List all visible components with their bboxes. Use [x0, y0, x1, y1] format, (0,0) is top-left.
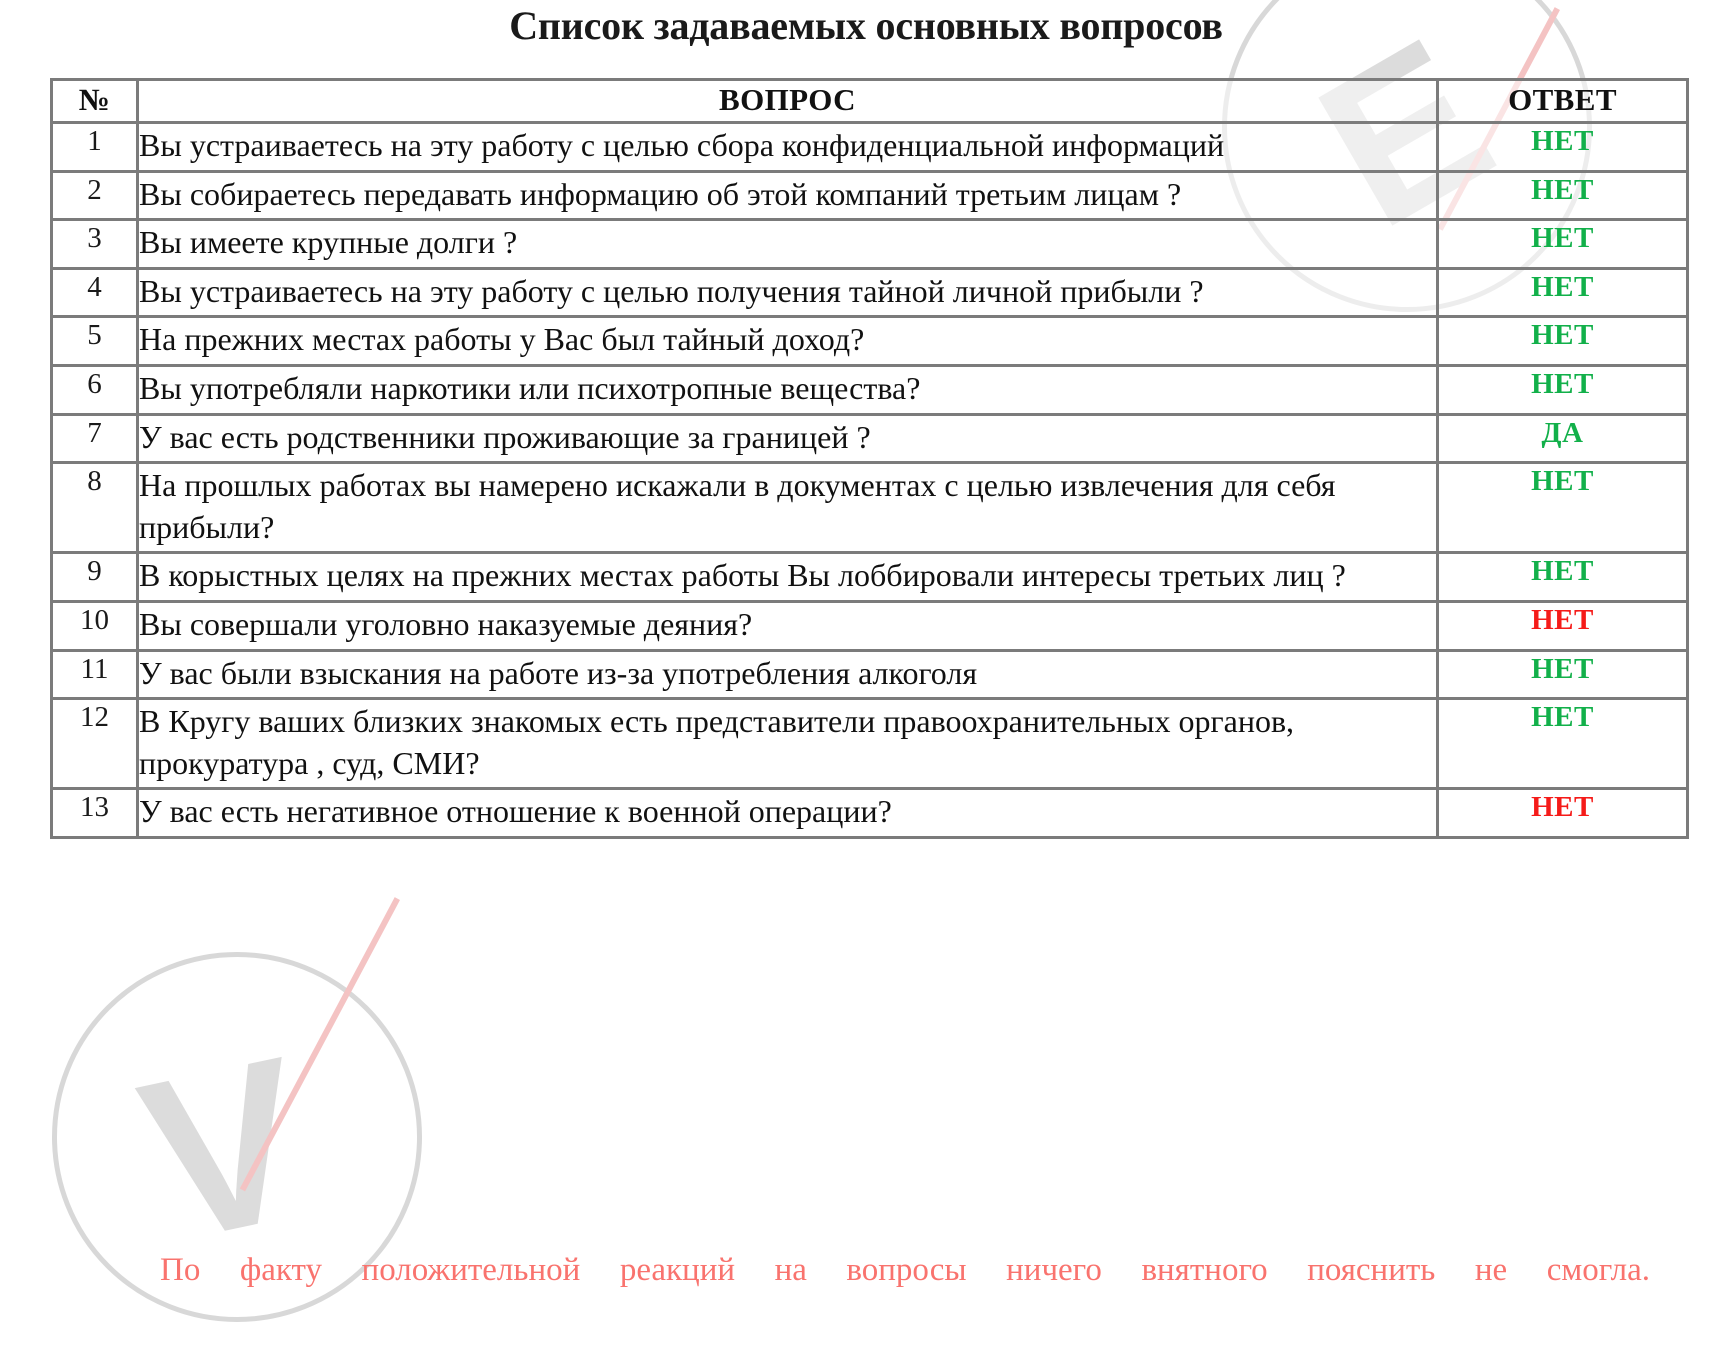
table-row: 1Вы устраиваетесь на эту работу с целью …	[52, 123, 1688, 172]
table-row: 8На прошлых работах вы намерено искажали…	[52, 463, 1688, 553]
table-row: 7У вас есть родственники проживающие за …	[52, 414, 1688, 463]
table-row: 10Вы совершали уголовно наказуемые деяни…	[52, 601, 1688, 650]
table-row: 12В Кругу ваших близких знакомых есть пр…	[52, 699, 1688, 789]
cell-question-text: Вы устраиваетесь на эту работу с целью п…	[138, 268, 1438, 317]
cell-answer-value: НЕТ	[1438, 699, 1688, 789]
table-row: 2Вы собираетесь передавать информацию об…	[52, 171, 1688, 220]
column-header-question: ВОПРОС	[138, 80, 1438, 123]
cell-row-number: 12	[52, 699, 138, 789]
cell-question-text: На прошлых работах вы намерено искажали …	[138, 463, 1438, 553]
table-body: 1Вы устраиваетесь на эту работу с целью …	[52, 123, 1688, 838]
table-header: № ВОПРОС ОТВЕТ	[52, 80, 1688, 123]
cell-question-text: В корыстных целях на прежних местах рабо…	[138, 553, 1438, 602]
cell-row-number: 13	[52, 789, 138, 838]
table-row: 6Вы употребляли наркотики или психотропн…	[52, 365, 1688, 414]
cell-answer-value: НЕТ	[1438, 463, 1688, 553]
cell-question-text: Вы устраиваетесь на эту работу с целью с…	[138, 123, 1438, 172]
cell-row-number: 4	[52, 268, 138, 317]
cell-answer-value: НЕТ	[1438, 220, 1688, 269]
cell-question-text: Вы имеете крупные долги ?	[138, 220, 1438, 269]
cell-question-text: В Кругу ваших близких знакомых есть пред…	[138, 699, 1438, 789]
cell-answer-value: НЕТ	[1438, 317, 1688, 366]
cell-answer-value: НЕТ	[1438, 123, 1688, 172]
cell-row-number: 11	[52, 650, 138, 699]
cell-answer-value: НЕТ	[1438, 553, 1688, 602]
closing-note: По факту положительной реакций на вопрос…	[55, 1247, 1650, 1343]
cell-answer-value: НЕТ	[1438, 650, 1688, 699]
table-row: 13У вас есть негативное отношение к воен…	[52, 789, 1688, 838]
table-row: 5На прежних местах работы у Вас был тайн…	[52, 317, 1688, 366]
page-title: Список задаваемых основных вопросов	[0, 2, 1732, 49]
cell-question-text: Вы употребляли наркотики или психотропны…	[138, 365, 1438, 414]
cell-row-number: 7	[52, 414, 138, 463]
table-row: 9В корыстных целях на прежних местах раб…	[52, 553, 1688, 602]
cell-row-number: 2	[52, 171, 138, 220]
questions-table: № ВОПРОС ОТВЕТ 1Вы устраиваетесь на эту …	[50, 78, 1689, 839]
cell-answer-value: ДА	[1438, 414, 1688, 463]
cell-row-number: 3	[52, 220, 138, 269]
table-row: 3Вы имеете крупные долги ?НЕТ	[52, 220, 1688, 269]
table-header-row: № ВОПРОС ОТВЕТ	[52, 80, 1688, 123]
column-header-number: №	[52, 80, 138, 123]
watermark-glyph-bottom: V	[126, 1022, 324, 1279]
cell-question-text: У вас есть родственники проживающие за г…	[138, 414, 1438, 463]
cell-question-text: Вы совершали уголовно наказуемые деяния?	[138, 601, 1438, 650]
cell-row-number: 10	[52, 601, 138, 650]
cell-answer-value: НЕТ	[1438, 601, 1688, 650]
column-header-answer: ОТВЕТ	[1438, 80, 1688, 123]
cell-row-number: 6	[52, 365, 138, 414]
cell-question-text: На прежних местах работы у Вас был тайны…	[138, 317, 1438, 366]
cell-question-text: У вас были взыскания на работе из-за упо…	[138, 650, 1438, 699]
cell-row-number: 9	[52, 553, 138, 602]
watermark-diagonal-bottom	[240, 897, 400, 1191]
cell-question-text: Вы собираетесь передавать информацию об …	[138, 171, 1438, 220]
cell-row-number: 8	[52, 463, 138, 553]
cell-row-number: 1	[52, 123, 138, 172]
cell-answer-value: НЕТ	[1438, 365, 1688, 414]
cell-row-number: 5	[52, 317, 138, 366]
cell-question-text: У вас есть негативное отношение к военно…	[138, 789, 1438, 838]
table-row: 4Вы устраиваетесь на эту работу с целью …	[52, 268, 1688, 317]
cell-answer-value: НЕТ	[1438, 171, 1688, 220]
cell-answer-value: НЕТ	[1438, 789, 1688, 838]
cell-answer-value: НЕТ	[1438, 268, 1688, 317]
table-row: 11У вас были взыскания на работе из-за у…	[52, 650, 1688, 699]
